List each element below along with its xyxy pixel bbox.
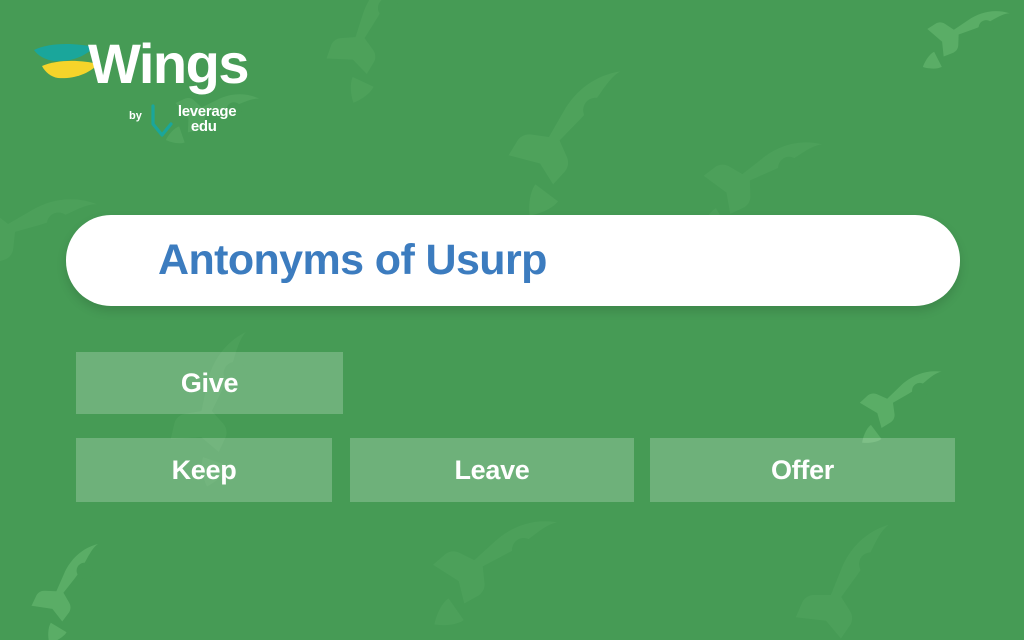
option-label: Leave	[454, 455, 529, 486]
sub-brand: leverage edu	[178, 104, 236, 135]
sub-brand-line1: leverage	[178, 104, 236, 119]
check-icon	[149, 104, 175, 138]
rocket-icon	[912, 0, 1024, 102]
rocket-icon	[772, 502, 958, 640]
option-button-give[interactable]: Give	[76, 352, 343, 414]
logo-byline: by leverage edu	[129, 102, 236, 138]
sub-brand-line2: edu	[191, 119, 236, 134]
option-button-offer[interactable]: Offer	[650, 438, 955, 502]
by-label: by	[129, 110, 142, 122]
logo-wordmark: Wings	[88, 36, 248, 92]
rocket-icon	[17, 529, 143, 640]
brand-logo: Wings by leverage edu	[28, 34, 258, 144]
option-button-leave[interactable]: Leave	[350, 438, 634, 502]
slide-canvas: Wings by leverage edu Antonyms of Usurp …	[0, 0, 1024, 640]
option-label: Offer	[771, 455, 834, 486]
rocket-icon	[418, 488, 592, 640]
page-title: Antonyms of Usurp	[158, 236, 547, 285]
rocket-icon	[302, 0, 469, 118]
option-label: Give	[181, 368, 238, 399]
rocket-icon	[495, 52, 676, 233]
option-button-keep[interactable]: Keep	[76, 438, 332, 502]
question-card: Antonyms of Usurp	[66, 215, 960, 306]
option-label: Keep	[172, 455, 237, 486]
